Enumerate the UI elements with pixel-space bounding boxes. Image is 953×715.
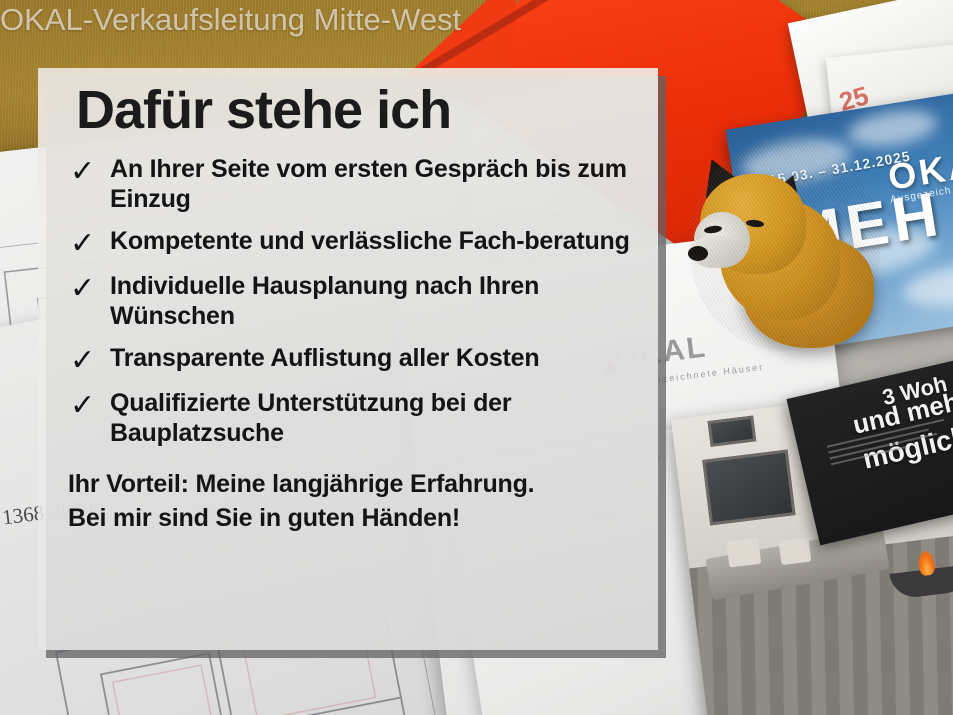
list-item-label: Individuelle Hausplanung nach Ihren Wüns… <box>110 272 632 331</box>
list-item: ✓ Kompetente und verlässliche Fach-berat… <box>62 227 632 259</box>
terrace-window <box>702 450 795 526</box>
content-panel: Dafür stehe ich ✓ An Ihrer Seite vom ers… <box>38 68 658 650</box>
terrace-upper-window <box>707 415 756 446</box>
check-icon: ✓ <box>62 272 110 304</box>
page-title: OKAL-Verkaufsleitung Mitte-West <box>0 2 461 38</box>
closing-statement: Ihr Vorteil: Meine langjährige Erfahrung… <box>68 468 632 535</box>
sofa-cushion <box>779 538 812 565</box>
fox-nose <box>688 246 708 261</box>
check-icon: ✓ <box>62 389 110 421</box>
plush-fox-figurine <box>690 140 880 350</box>
list-item-label: Qualifizierte Unterstützung bei der Baup… <box>110 389 632 448</box>
list-item: ✓ Transparente Auflistung aller Kosten <box>62 344 632 376</box>
list-item: ✓ Individuelle Hausplanung nach Ihren Wü… <box>62 272 632 331</box>
check-icon: ✓ <box>62 227 110 259</box>
slide-canvas: 25 15.03. – 31.12.2025 MEH OKA Ausgezeic… <box>0 0 953 715</box>
benefits-list: ✓ An Ihrer Seite vom ersten Gespräch bis… <box>62 155 632 448</box>
check-icon: ✓ <box>62 344 110 376</box>
sofa-cushion <box>726 538 761 568</box>
check-icon: ✓ <box>62 155 110 187</box>
closing-line-1: Ihr Vorteil: Meine langjährige Erfahrung… <box>68 468 632 502</box>
list-item-label: Kompetente und verlässliche Fach-beratun… <box>110 227 630 257</box>
list-item: ✓ Qualifizierte Unterstützung bei der Ba… <box>62 389 632 448</box>
list-item: ✓ An Ihrer Seite vom ersten Gespräch bis… <box>62 155 632 214</box>
list-item-label: Transparente Auflistung aller Kosten <box>110 344 539 374</box>
panel-heading: Dafür stehe ich <box>76 82 632 139</box>
list-item-label: An Ihrer Seite vom ersten Gespräch bis z… <box>110 155 632 214</box>
closing-line-2: Bei mir sind Sie in guten Händen! <box>68 502 632 536</box>
